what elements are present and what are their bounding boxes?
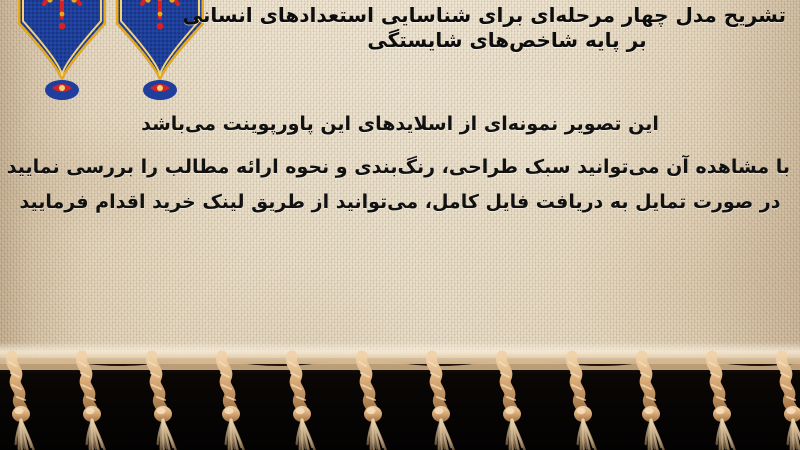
carpet-fringe [0,342,800,450]
title-line-1: تشریح مدل چهار مرحله‌ای برای شناسایی است… [228,3,786,28]
slide-canvas: تشریح مدل چهار مرحله‌ای برای شناسایی است… [0,0,800,450]
body-line-3: در صورت تمایل به دریافت فایل کامل، می‌تو… [10,190,790,215]
slide-title: تشریح مدل چهار مرحله‌ای برای شناسایی است… [228,3,786,53]
body-line-1: این تصویر نمونه‌ای از اسلایدهای این پاور… [10,112,790,137]
slide-body: این تصویر نمونه‌ای از اسلایدهای این پاور… [10,112,790,215]
body-line-2: با مشاهده آن می‌توانید سبک طراحی، رنگ‌بن… [10,155,790,180]
title-line-2: بر پایه شاخص‌های شایستگی [228,28,786,53]
